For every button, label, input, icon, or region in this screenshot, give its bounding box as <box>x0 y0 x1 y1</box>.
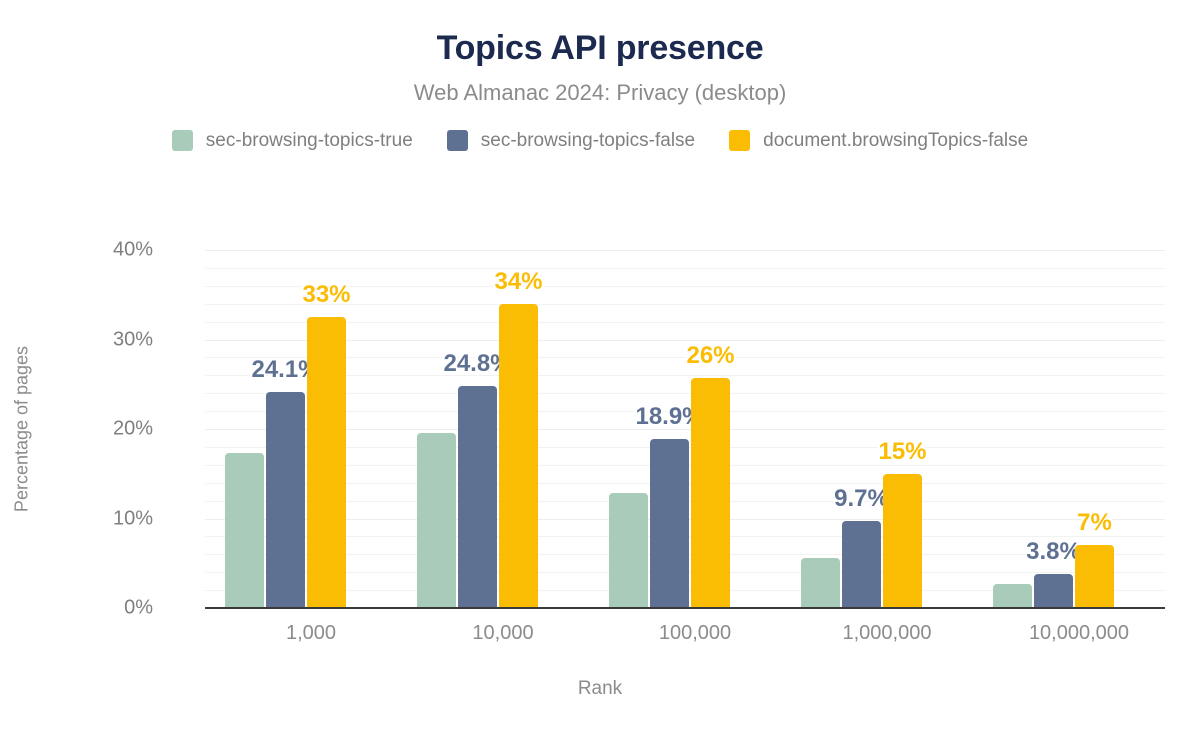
gridline <box>205 483 1165 484</box>
gridline <box>205 250 1165 251</box>
legend-label: sec-browsing-topics-true <box>206 130 413 152</box>
bar-groups: 24.1%33%1,00024.8%34%10,00018.9%26%100,0… <box>205 250 1165 608</box>
y-axis-tick-label: 0% <box>0 597 153 620</box>
bars: 9.7%15% <box>781 250 973 608</box>
bar[interactable]: 7% <box>1075 545 1114 608</box>
gridline <box>205 286 1165 287</box>
bar-group: 24.8%34%10,000 <box>397 250 589 608</box>
bar[interactable]: 18.9% <box>650 439 689 608</box>
bar[interactable]: 34% <box>499 304 538 608</box>
legend-swatch-icon <box>729 130 750 151</box>
bars: 3.8%7% <box>973 250 1165 608</box>
bar[interactable]: 15% <box>883 474 922 608</box>
bar[interactable] <box>993 584 1032 608</box>
x-axis-tick-label: 100,000 <box>589 622 781 645</box>
bar[interactable] <box>801 558 840 608</box>
bar-value-label: 18.9% <box>635 403 703 431</box>
x-axis-baseline <box>205 607 1165 609</box>
chart-header: Topics API presence Web Almanac 2024: Pr… <box>0 0 1200 106</box>
gridline <box>205 304 1165 305</box>
y-axis-tick-label: 40% <box>0 239 153 262</box>
bar[interactable]: 24.1% <box>266 392 305 608</box>
y-axis-tick-label: 10% <box>0 507 153 530</box>
x-axis-title: Rank <box>0 678 1200 700</box>
bar-value-label: 7% <box>1077 509 1112 537</box>
bar-value-label: 3.8% <box>1026 538 1081 566</box>
bars: 24.8%34% <box>397 250 589 608</box>
bar-group: 18.9%26%100,000 <box>589 250 781 608</box>
gridline <box>205 465 1165 466</box>
legend-label: document.browsingTopics-false <box>763 130 1028 152</box>
page-title: Topics API presence <box>0 30 1200 67</box>
bar[interactable] <box>225 453 264 608</box>
chart-subtitle: Web Almanac 2024: Privacy (desktop) <box>0 81 1200 105</box>
bar[interactable]: 24.8% <box>458 386 497 608</box>
gridline <box>205 447 1165 448</box>
gridline <box>205 357 1165 358</box>
bar-value-label: 24.1% <box>251 356 319 384</box>
gridline <box>205 375 1165 376</box>
gridline <box>205 608 1165 609</box>
x-axis-tick-label: 10,000,000 <box>973 622 1165 645</box>
plot-area: 0%10%20%30%40% 24.1%33%1,00024.8%34%10,0… <box>205 250 1165 608</box>
bar[interactable]: 26% <box>691 378 730 608</box>
bar-group: 9.7%15%1,000,000 <box>781 250 973 608</box>
bar-value-label: 33% <box>302 281 350 309</box>
chart-plot-wrapper: Percentage of pages 0%10%20%30%40% 24.1%… <box>0 0 1200 742</box>
y-axis-tick-label: 30% <box>0 328 153 351</box>
gridline <box>205 572 1165 573</box>
bar[interactable] <box>417 433 456 608</box>
bar[interactable]: 3.8% <box>1034 574 1073 608</box>
x-axis-tick-label: 1,000 <box>205 622 397 645</box>
gridline <box>205 322 1165 323</box>
bar[interactable]: 9.7% <box>842 521 881 608</box>
legend-swatch-icon <box>447 130 468 151</box>
bar-group: 24.1%33%1,000 <box>205 250 397 608</box>
chart-legend: sec-browsing-topics-true sec-browsing-to… <box>0 130 1200 152</box>
bar-value-label: 9.7% <box>834 485 889 513</box>
gridline <box>205 340 1165 341</box>
y-axis-title: Percentage of pages <box>12 346 33 512</box>
bars: 24.1%33% <box>205 250 397 608</box>
legend-item-sec-browsing-topics-true[interactable]: sec-browsing-topics-true <box>172 130 413 152</box>
bar-value-label: 34% <box>494 268 542 296</box>
gridline <box>205 268 1165 269</box>
bar[interactable] <box>609 493 648 608</box>
bar-value-label: 26% <box>686 342 734 370</box>
legend-item-document-browsingtopics-false[interactable]: document.browsingTopics-false <box>729 130 1028 152</box>
legend-item-sec-browsing-topics-false[interactable]: sec-browsing-topics-false <box>447 130 695 152</box>
bar-value-label: 15% <box>878 438 926 466</box>
gridline <box>205 536 1165 537</box>
gridline <box>205 519 1165 520</box>
bar-group: 3.8%7%10,000,000 <box>973 250 1165 608</box>
gridline <box>205 429 1165 430</box>
x-axis-tick-label: 10,000 <box>397 622 589 645</box>
y-axis-tick-label: 20% <box>0 418 153 441</box>
gridline <box>205 590 1165 591</box>
legend-label: sec-browsing-topics-false <box>481 130 695 152</box>
gridline <box>205 393 1165 394</box>
bar-value-label: 24.8% <box>443 350 511 378</box>
legend-swatch-icon <box>172 130 193 151</box>
gridline <box>205 554 1165 555</box>
bar[interactable]: 33% <box>307 317 346 608</box>
bars: 18.9%26% <box>589 250 781 608</box>
x-axis-tick-label: 1,000,000 <box>781 622 973 645</box>
gridline <box>205 411 1165 412</box>
gridline <box>205 501 1165 502</box>
